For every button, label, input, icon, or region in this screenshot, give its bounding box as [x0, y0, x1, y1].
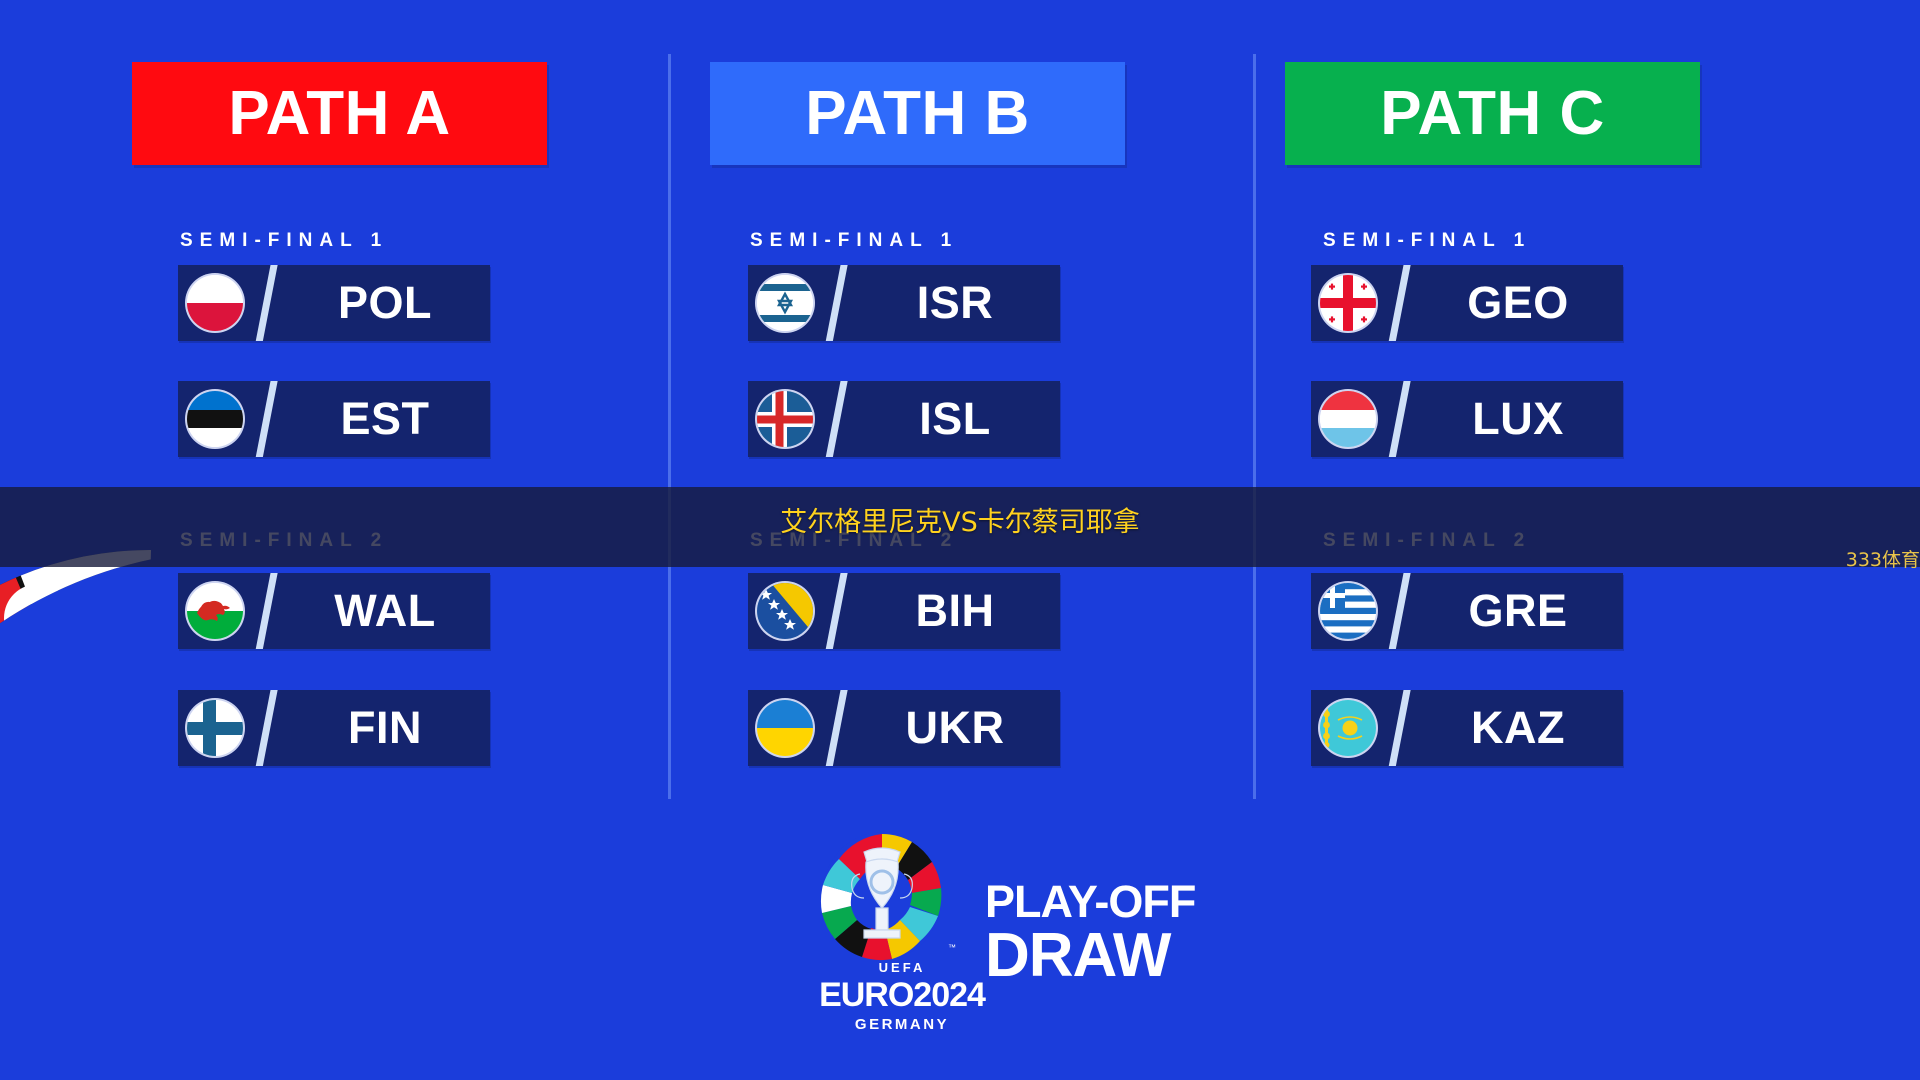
team-code: ISR	[856, 277, 1060, 329]
table-row[interactable]: EST	[178, 381, 490, 457]
headline-line-1: PLAY-OFF	[985, 880, 1195, 924]
table-row[interactable]: WAL	[178, 573, 490, 649]
uefa-euro-2024-trophy-logo: ™ UEFA EURO2024 GERMANY	[802, 830, 962, 1045]
slash-separator-icon	[1385, 381, 1419, 457]
finland-flag	[178, 690, 252, 766]
iceland-flag	[748, 381, 822, 457]
path-c-title: PATH C	[1380, 83, 1605, 145]
slash-separator-icon	[252, 573, 286, 649]
germany-text: GERMANY	[802, 1016, 1002, 1033]
bosnia-flag	[748, 573, 822, 649]
path-a-semifinal-1-label: SEMI-FINAL 1	[180, 230, 388, 252]
table-row[interactable]: ISL	[748, 381, 1060, 457]
path-c-banner: PATH C	[1285, 62, 1700, 165]
wales-flag	[178, 573, 252, 649]
headline-line-2: DRAW	[985, 926, 1195, 987]
slash-separator-icon	[252, 690, 286, 766]
team-code: KAZ	[1419, 702, 1623, 754]
slash-separator-icon	[1385, 265, 1419, 341]
logo-wordmark: UEFA EURO2024 GERMANY	[802, 960, 1002, 1033]
team-code: ISL	[856, 393, 1060, 445]
greece-flag	[1311, 573, 1385, 649]
uefa-text: UEFA	[802, 960, 1002, 975]
screen-root: PATH A SEMI-FINAL 1 POL	[0, 0, 1920, 1080]
path-b-title: PATH B	[805, 83, 1030, 145]
kazakhstan-flag	[1311, 690, 1385, 766]
path-a-title: PATH A	[228, 83, 450, 145]
path-a-banner: PATH A	[132, 62, 547, 165]
team-code: LUX	[1419, 393, 1623, 445]
table-row[interactable]: KAZ	[1311, 690, 1623, 766]
paths-grid: PATH A SEMI-FINAL 1 POL	[0, 0, 1920, 820]
ukraine-flag	[748, 690, 822, 766]
path-b-semifinal-1-label: SEMI-FINAL 1	[750, 230, 958, 252]
team-code: BIH	[856, 585, 1060, 637]
table-row[interactable]: FIN	[178, 690, 490, 766]
branding-block: ™ UEFA EURO2024 GERMANY PLAY-OFF DRAW	[760, 820, 1320, 1050]
euro-2024-text: EURO2024	[802, 978, 1002, 1012]
slash-separator-icon	[822, 573, 856, 649]
column-divider-2	[1253, 54, 1256, 799]
table-row[interactable]: BIH	[748, 573, 1060, 649]
team-code: GEO	[1419, 277, 1623, 329]
column-divider-1	[668, 54, 671, 799]
table-row[interactable]: GEO	[1311, 265, 1623, 341]
israel-flag	[748, 265, 822, 341]
estonia-flag	[178, 381, 252, 457]
team-code: EST	[286, 393, 490, 445]
table-row[interactable]: ISR	[748, 265, 1060, 341]
georgia-flag	[1311, 265, 1385, 341]
slash-separator-icon	[1385, 690, 1419, 766]
poland-flag	[178, 265, 252, 341]
table-row[interactable]: UKR	[748, 690, 1060, 766]
slash-separator-icon	[822, 690, 856, 766]
team-code: FIN	[286, 702, 490, 754]
slash-separator-icon	[822, 381, 856, 457]
slash-separator-icon	[252, 381, 286, 457]
path-b-banner: PATH B	[710, 62, 1125, 165]
team-code: GRE	[1419, 585, 1623, 637]
path-c-semifinal-1-label: SEMI-FINAL 1	[1323, 230, 1531, 252]
site-watermark: 333体育	[1846, 545, 1920, 572]
table-row[interactable]: GRE	[1311, 573, 1623, 649]
table-row[interactable]: POL	[178, 265, 490, 341]
team-code: POL	[286, 277, 490, 329]
slash-separator-icon	[1385, 573, 1419, 649]
table-row[interactable]: LUX	[1311, 381, 1623, 457]
luxembourg-flag	[1311, 381, 1385, 457]
slash-separator-icon	[252, 265, 286, 341]
team-code: UKR	[856, 702, 1060, 754]
team-code: WAL	[286, 585, 490, 637]
svg-text:™: ™	[948, 943, 956, 952]
playoff-draw-headline: PLAY-OFF DRAW	[985, 880, 1195, 987]
overlay-match-text: 艾尔格里尼克VS卡尔蔡司耶拿	[0, 500, 1920, 539]
slash-separator-icon	[822, 265, 856, 341]
